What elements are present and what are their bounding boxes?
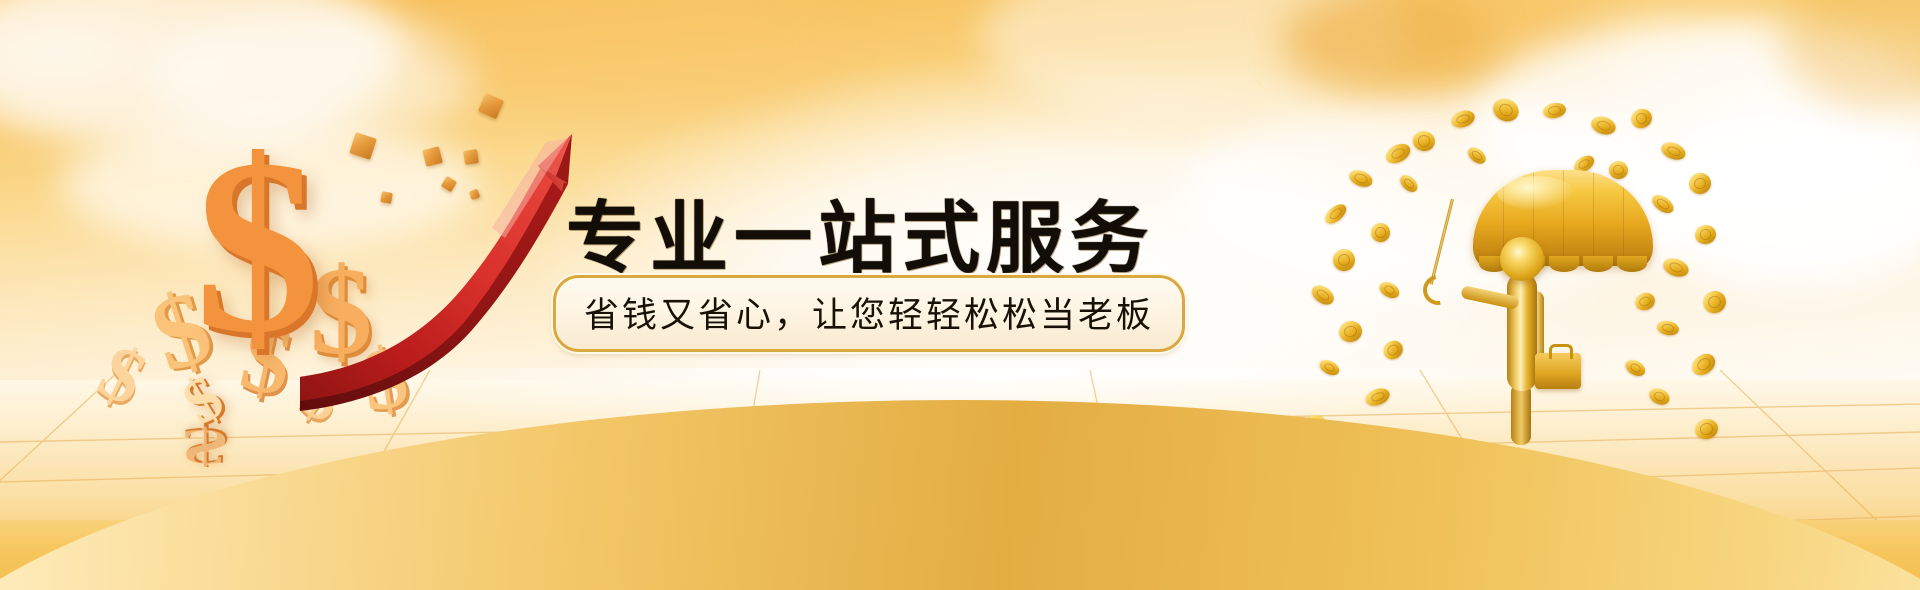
coin-icon <box>1623 357 1648 380</box>
coin-icon <box>1687 170 1714 196</box>
umbrella-icon <box>1473 170 1653 265</box>
coin-icon <box>1589 114 1618 138</box>
cloud-shape <box>1290 0 1620 120</box>
coin-icon <box>1656 319 1680 337</box>
subtitle-frame: 省钱又省心，让您轻轻松松当老板 <box>553 275 1185 352</box>
coin-icon <box>1649 191 1677 216</box>
figure-body <box>1507 273 1537 391</box>
coin-icon <box>1694 224 1717 246</box>
coin-icon <box>1411 129 1437 153</box>
promo-banner: $ $ $ $ $ $ $ $ $ <box>0 0 1920 590</box>
dollar-icon: $ <box>88 331 157 418</box>
cloud-shape <box>980 0 1410 120</box>
coin-icon <box>1633 290 1658 313</box>
coin-icon <box>1647 385 1672 408</box>
umbrella-pole <box>1430 199 1454 285</box>
umbrella-handle <box>1417 269 1459 311</box>
briefcase-icon <box>1535 353 1581 389</box>
page-title: 专业一站式服务 <box>566 176 1154 288</box>
cloud-shape <box>1280 0 1490 82</box>
subtitle-text: 省钱又省心，让您轻轻松松当老板 <box>584 287 1154 338</box>
coin-icon <box>1699 287 1730 317</box>
umbrella-highlight <box>1497 176 1575 210</box>
umbrella-rib <box>1617 256 1647 272</box>
figure-leg <box>1511 383 1531 445</box>
umbrella-rib <box>1549 256 1579 272</box>
coin-icon <box>1659 139 1688 163</box>
coin-icon <box>1661 255 1691 280</box>
coin-icon <box>1465 144 1489 167</box>
umbrella-rib <box>1583 256 1613 272</box>
coin-icon <box>1688 349 1719 379</box>
coin-icon <box>1693 417 1720 442</box>
figure-head <box>1500 237 1544 281</box>
umbrella-figure-scene <box>1395 115 1745 475</box>
coin-icon <box>1397 172 1420 195</box>
cloud-shape <box>1780 0 1920 110</box>
